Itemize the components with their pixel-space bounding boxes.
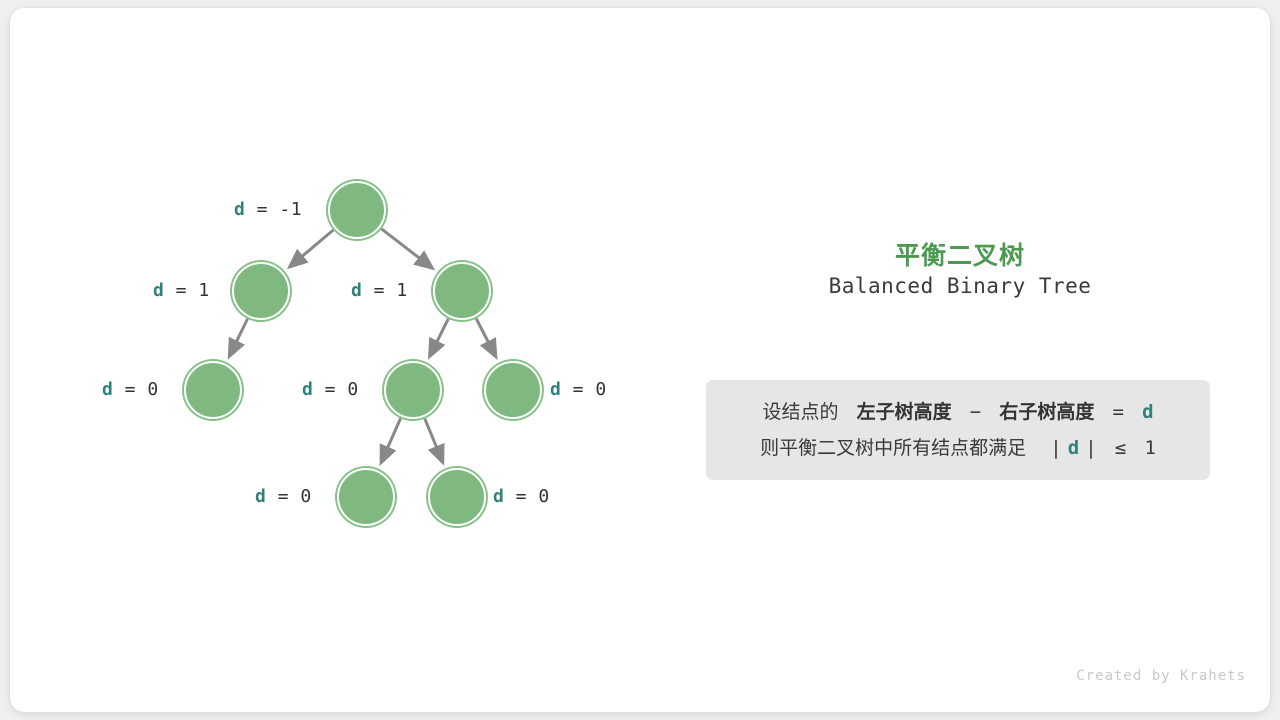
equals-sign: = bbox=[113, 379, 147, 400]
equals-sign: = bbox=[164, 280, 198, 301]
lbl-rl-right: d = 0 bbox=[493, 486, 550, 507]
tree-node-n-right[interactable] bbox=[433, 262, 491, 320]
definition-box: 设结点的 左子树高度 − 右子树高度 = d 则平衡二叉树中所有结点都满足 | bbox=[706, 380, 1210, 480]
equals-sign: = bbox=[266, 486, 300, 507]
panel-subtitle: Balanced Binary Tree bbox=[700, 274, 1220, 298]
info-panel: 平衡二叉树 Balanced Binary Tree 设结点的 左子树高度 − … bbox=[700, 8, 1220, 720]
equals-sign: = bbox=[245, 199, 279, 220]
equals-sign: = bbox=[504, 486, 538, 507]
balance-factor-symbol: d bbox=[302, 379, 313, 400]
balance-factor-value: 0 bbox=[538, 486, 549, 507]
equals-sign: = bbox=[362, 280, 396, 301]
condition-prefix: 则平衡二叉树中所有结点都满足 bbox=[760, 437, 1026, 459]
balance-factor-symbol: d bbox=[550, 379, 561, 400]
lbl-root: d = -1 bbox=[234, 199, 302, 220]
balance-factor-value: 0 bbox=[147, 379, 158, 400]
balance-factor-symbol: d bbox=[351, 280, 362, 301]
balance-factor-value: 0 bbox=[300, 486, 311, 507]
abs-bar-open: | bbox=[1050, 437, 1061, 459]
tree-edge bbox=[476, 319, 495, 357]
lbl-left: d = 1 bbox=[153, 280, 210, 301]
tree-node-n-rl-right[interactable] bbox=[428, 468, 486, 526]
lbl-left-left: d = 0 bbox=[102, 379, 159, 400]
lbl-right: d = 1 bbox=[351, 280, 408, 301]
tree-edge bbox=[230, 319, 248, 356]
tree-node-n-right-left[interactable] bbox=[384, 361, 442, 419]
balance-factor-symbol: d bbox=[234, 199, 245, 220]
balance-factor-symbol: d bbox=[102, 379, 113, 400]
minus-operator: − bbox=[970, 401, 981, 423]
lbl-rl-left: d = 0 bbox=[255, 486, 312, 507]
definition-line-2: 则平衡二叉树中所有结点都满足 | d | ≤ 1 bbox=[706, 430, 1210, 466]
tree-edge bbox=[425, 419, 443, 462]
tree-edge bbox=[381, 418, 400, 462]
bound-value: 1 bbox=[1144, 437, 1155, 459]
balance-factor-value: 0 bbox=[347, 379, 358, 400]
tree-edge bbox=[430, 319, 448, 356]
lbl-right-left: d = 0 bbox=[302, 379, 359, 400]
equals-sign: = bbox=[313, 379, 347, 400]
screenshot-root: d = -1d = 1d = 1d = 0d = 0d = 0d = 0d = … bbox=[0, 0, 1280, 720]
balance-factor-value: 0 bbox=[595, 379, 606, 400]
tree-node-n-right-right[interactable] bbox=[484, 361, 542, 419]
equals-operator: = bbox=[1113, 401, 1124, 423]
balance-factor-value: 1 bbox=[198, 280, 209, 301]
abs-bar-close: | bbox=[1085, 437, 1096, 459]
term-right-subtree-height: 右子树高度 bbox=[999, 401, 1094, 423]
content-card: d = -1d = 1d = 1d = 0d = 0d = 0d = 0d = … bbox=[10, 8, 1270, 712]
definition-prefix: 设结点的 bbox=[762, 401, 838, 423]
panel-title: 平衡二叉树 bbox=[700, 236, 1220, 272]
balance-factor-value: 1 bbox=[396, 280, 407, 301]
tree-edges-svg bbox=[10, 8, 690, 720]
lbl-right-right: d = 0 bbox=[550, 379, 607, 400]
tree-node-n-rl-left[interactable] bbox=[337, 468, 395, 526]
tree-edge bbox=[290, 230, 333, 267]
definition-line-1: 设结点的 左子树高度 − 右子树高度 = d bbox=[706, 394, 1210, 430]
tree-node-n-left-left[interactable] bbox=[184, 361, 242, 419]
variable-d: d bbox=[1142, 401, 1153, 423]
balance-factor-symbol: d bbox=[255, 486, 266, 507]
balance-factor-symbol: d bbox=[493, 486, 504, 507]
less-equal-operator: ≤ bbox=[1115, 437, 1126, 459]
tree-diagram: d = -1d = 1d = 1d = 0d = 0d = 0d = 0d = … bbox=[10, 8, 690, 720]
term-left-subtree-height: 左子树高度 bbox=[857, 401, 952, 423]
variable-d-abs: d bbox=[1068, 437, 1079, 459]
balance-factor-symbol: d bbox=[153, 280, 164, 301]
tree-node-root[interactable] bbox=[328, 181, 386, 239]
tree-node-n-left[interactable] bbox=[232, 262, 290, 320]
tree-edge bbox=[382, 229, 432, 268]
equals-sign: = bbox=[561, 379, 595, 400]
watermark: Created by Krahets bbox=[1076, 668, 1246, 684]
balance-factor-value: -1 bbox=[279, 199, 302, 220]
